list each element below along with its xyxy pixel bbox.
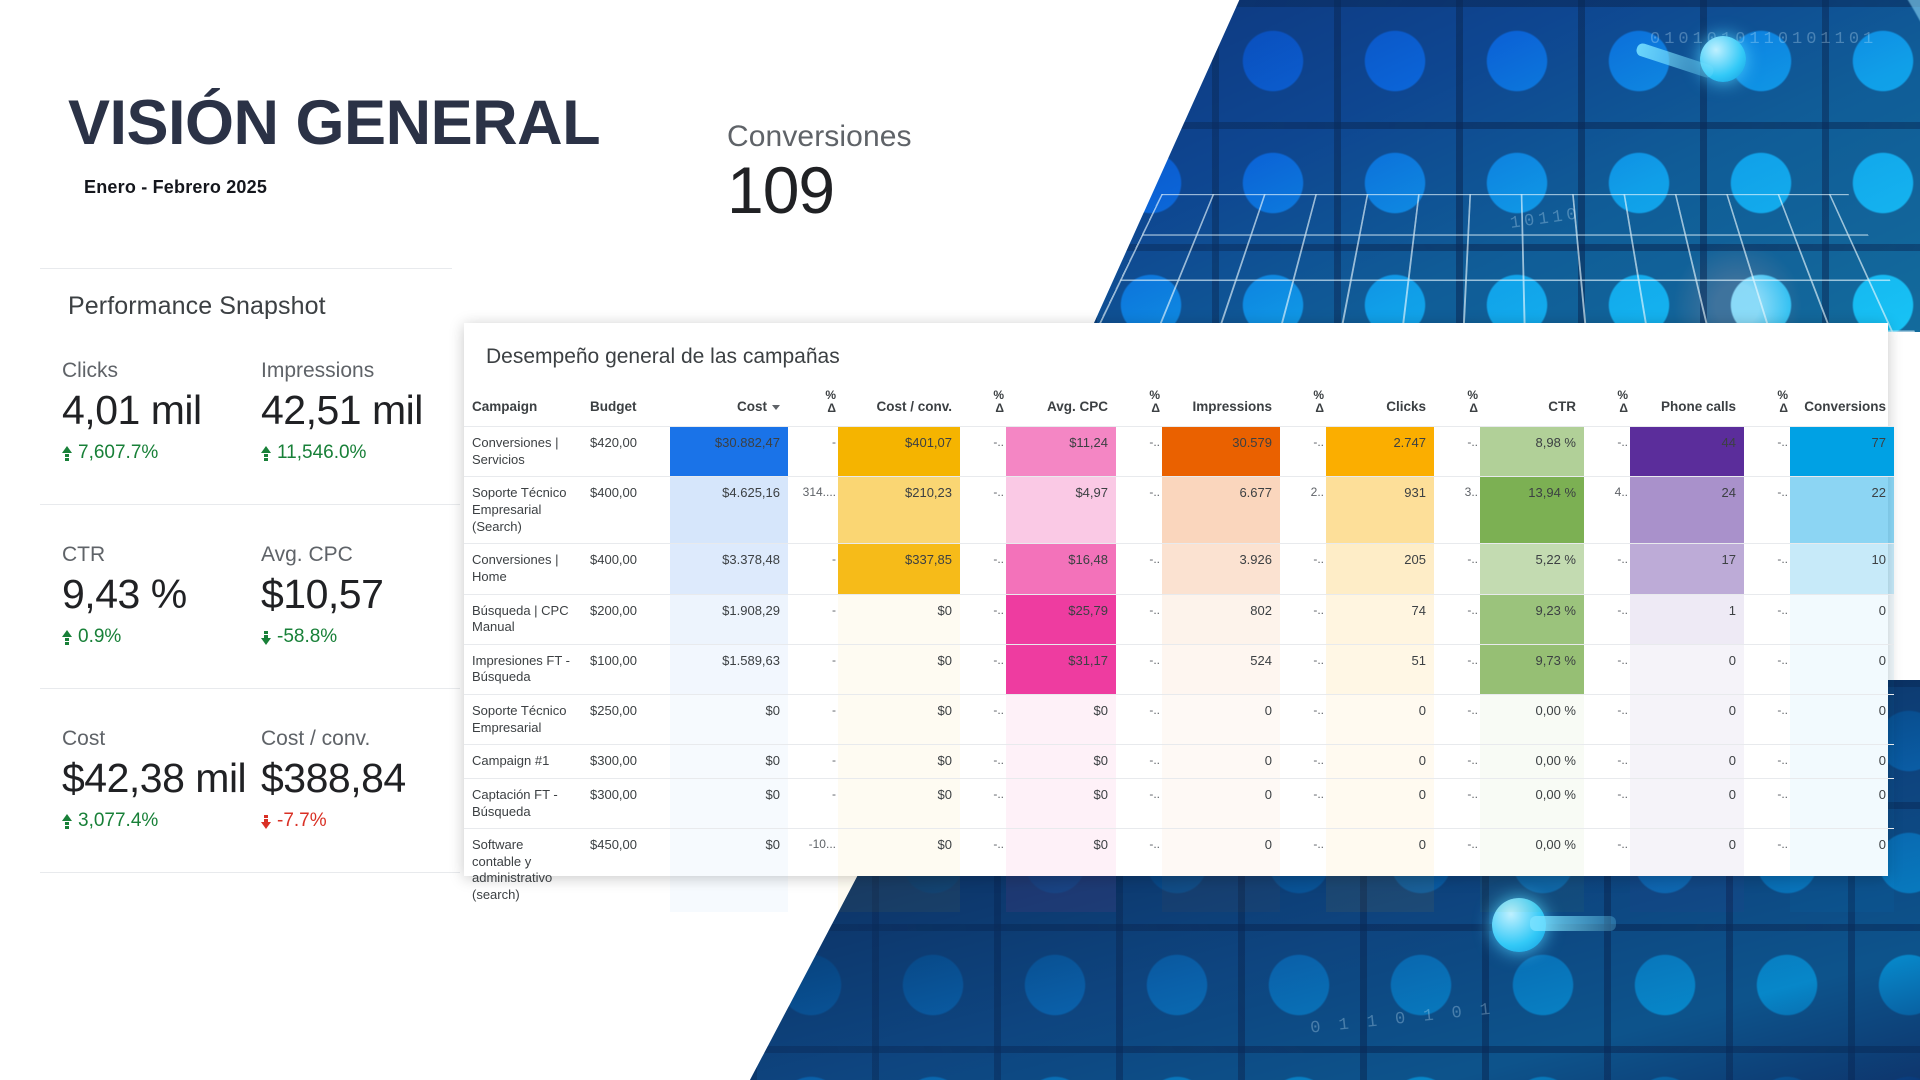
cell-clicks-pct: -..: [1434, 427, 1480, 477]
metric-delta-value: -58.8%: [277, 626, 337, 648]
cell-ctr: 8,98 %: [1480, 427, 1584, 477]
cell-cost-conv: $0: [838, 745, 960, 779]
cell-ctr: 0,00 %: [1480, 778, 1584, 828]
cell-cost-pct: -10...: [788, 829, 838, 912]
cell-phone-calls-pct: -..: [1744, 829, 1790, 912]
cell-conversions: 0: [1790, 829, 1894, 912]
cell-cost-pct: -: [788, 695, 838, 745]
cell-conversions: 77: [1790, 427, 1894, 477]
table-title: Desempeño general de las campañas: [464, 323, 1888, 369]
col-header--15[interactable]: %Δ: [1744, 383, 1790, 427]
metric-label: CTR: [62, 543, 261, 567]
cell-avg-cpc-pct: -..: [1116, 427, 1162, 477]
col-header-impressions[interactable]: Impressions: [1162, 383, 1280, 427]
cell-clicks: 0: [1326, 829, 1434, 912]
cell-impressions: 802: [1162, 594, 1280, 644]
cell-cost-conv: $210,23: [838, 477, 960, 544]
cell-cost-conv-pct: -..: [960, 778, 1006, 828]
metric-cost-conv: Cost / conv.$388,84-7.7%: [261, 727, 460, 832]
kpi-conversions: Conversiones 109: [727, 120, 912, 225]
cell-cost: $4.625,16: [670, 477, 788, 544]
cell-phone-calls-pct: -..: [1744, 544, 1790, 594]
metric-delta: 3,077.4%: [62, 810, 261, 832]
table-row[interactable]: Conversiones | Home$400,00$3.378,48-$337…: [464, 544, 1894, 594]
table-header-row: CampaignBudgetCost%ΔCost / conv.%ΔAvg. C…: [464, 383, 1894, 427]
cell-cost-conv: $0: [838, 695, 960, 745]
metric-delta-value: 3,077.4%: [78, 810, 158, 832]
cell-ctr-pct: -..: [1584, 644, 1630, 694]
metric-value: 9,43 %: [62, 571, 261, 618]
arrow-down-icon: [261, 814, 271, 829]
cell-clicks: 0: [1326, 695, 1434, 745]
table-row[interactable]: Campaign #1$300,00$0-$0-..$0-..0-..0-..0…: [464, 745, 1894, 779]
cell-campaign: Campaign #1: [464, 745, 582, 779]
cell-ctr: 5,22 %: [1480, 544, 1584, 594]
metric-delta: 11,546.0%: [261, 442, 460, 464]
cell-budget: $200,00: [582, 594, 670, 644]
cell-impressions: 0: [1162, 778, 1280, 828]
cell-ctr: 0,00 %: [1480, 695, 1584, 745]
metric-clicks: Clicks4,01 mil7,607.7%: [62, 359, 261, 464]
cell-campaign: Conversiones | Home: [464, 544, 582, 594]
cell-cost-conv-pct: -..: [960, 477, 1006, 544]
cell-cost-conv-pct: -..: [960, 544, 1006, 594]
metric-value: 42,51 mil: [261, 387, 460, 434]
metric-label: Cost: [62, 727, 261, 751]
cell-phone-calls-pct: -..: [1744, 594, 1790, 644]
cell-clicks: 74: [1326, 594, 1434, 644]
cell-impressions-pct: -..: [1280, 778, 1326, 828]
cell-avg-cpc-pct: -..: [1116, 745, 1162, 779]
cell-clicks-pct: -..: [1434, 644, 1480, 694]
cell-ctr: 9,73 %: [1480, 644, 1584, 694]
cell-cost-pct: -: [788, 644, 838, 694]
snapshot-title: Performance Snapshot: [40, 268, 460, 321]
col-header-avg-cpc[interactable]: Avg. CPC: [1006, 383, 1116, 427]
cell-budget: $400,00: [582, 477, 670, 544]
kpi-conversions-label: Conversiones: [727, 120, 912, 154]
cell-campaign: Búsqueda | CPC Manual: [464, 594, 582, 644]
cell-budget: $300,00: [582, 745, 670, 779]
cell-ctr-pct: -..: [1584, 695, 1630, 745]
table-row[interactable]: Soporte Técnico Empresarial (Search)$400…: [464, 477, 1894, 544]
metric-label: Impressions: [261, 359, 460, 383]
metric-delta-value: 7,607.7%: [78, 442, 158, 464]
arrow-down-icon: [261, 630, 271, 645]
cell-budget: $400,00: [582, 544, 670, 594]
cell-impressions: 0: [1162, 695, 1280, 745]
cell-phone-calls: 0: [1630, 695, 1744, 745]
cell-cost-conv-pct: -..: [960, 594, 1006, 644]
metric-cost: Cost$42,38 mil3,077.4%: [62, 727, 261, 832]
cell-ctr-pct: -..: [1584, 544, 1630, 594]
cell-phone-calls: 24: [1630, 477, 1744, 544]
cell-cost: $0: [670, 695, 788, 745]
cell-phone-calls: 17: [1630, 544, 1744, 594]
col-header-cost-conv[interactable]: Cost / conv.: [838, 383, 960, 427]
cell-impressions: 524: [1162, 644, 1280, 694]
arrow-up-icon: [261, 446, 271, 461]
metric-label: Cost / conv.: [261, 727, 460, 751]
campaign-performance-table-panel: Desempeño general de las campañas Campai…: [464, 323, 1888, 876]
cell-avg-cpc-pct: -..: [1116, 695, 1162, 745]
campaign-table: CampaignBudgetCost%ΔCost / conv.%ΔAvg. C…: [464, 383, 1894, 912]
cell-cost-pct: -: [788, 745, 838, 779]
cell-cost: $1.908,29: [670, 594, 788, 644]
cell-impressions: 30.579: [1162, 427, 1280, 477]
cell-cost-conv-pct: -..: [960, 745, 1006, 779]
kpi-conversions-value: 109: [727, 156, 912, 225]
cell-avg-cpc-pct: -..: [1116, 778, 1162, 828]
decorative-tech-image-top: 0101010110101101 10110: [1090, 0, 1920, 332]
cell-phone-calls: 1: [1630, 594, 1744, 644]
cell-campaign: Impresiones FT - Búsqueda: [464, 644, 582, 694]
cell-cost-pct: -: [788, 778, 838, 828]
cell-campaign: Soporte Técnico Empresarial: [464, 695, 582, 745]
cell-budget: $300,00: [582, 778, 670, 828]
cell-campaign: Software contable y administrativo (sear…: [464, 829, 582, 912]
table-row[interactable]: Soporte Técnico Empresarial$250,00$0-$0-…: [464, 695, 1894, 745]
cell-phone-calls-pct: -..: [1744, 644, 1790, 694]
performance-snapshot-card: Performance Snapshot Clicks4,01 mil7,607…: [40, 268, 460, 938]
metric-row: Cost$42,38 mil3,077.4%Cost / conv.$388,8…: [40, 689, 460, 872]
cell-cost: $0: [670, 829, 788, 912]
col-header--11[interactable]: %Δ: [1434, 383, 1480, 427]
cell-cost-conv-pct: -..: [960, 829, 1006, 912]
divider: [40, 872, 460, 873]
metric-value: 4,01 mil: [62, 387, 261, 434]
cell-cost: $3.378,48: [670, 544, 788, 594]
cell-clicks-pct: -..: [1434, 594, 1480, 644]
cell-budget: $420,00: [582, 427, 670, 477]
cell-impressions-pct: -..: [1280, 544, 1326, 594]
metric-delta: -58.8%: [261, 626, 460, 648]
cell-impressions: 3.926: [1162, 544, 1280, 594]
table-row[interactable]: Búsqueda | CPC Manual$200,00$1.908,29-$0…: [464, 594, 1894, 644]
cell-clicks-pct: -..: [1434, 829, 1480, 912]
table-row[interactable]: Software contable y administrativo (sear…: [464, 829, 1894, 912]
cell-phone-calls: 0: [1630, 745, 1744, 779]
cell-clicks: 0: [1326, 745, 1434, 779]
metric-row: CTR9,43 %0.9%Avg. CPC$10,57-58.8%: [40, 505, 460, 688]
table-body: Conversiones | Servicios$420,00$30.882,4…: [464, 427, 1894, 912]
cell-cost-conv: $0: [838, 644, 960, 694]
metric-avg-cpc: Avg. CPC$10,57-58.8%: [261, 543, 460, 648]
cell-impressions-pct: -..: [1280, 829, 1326, 912]
cell-impressions: 6.677: [1162, 477, 1280, 544]
col-header-clicks[interactable]: Clicks: [1326, 383, 1434, 427]
arrow-up-icon: [62, 814, 72, 829]
cell-impressions: 0: [1162, 745, 1280, 779]
cell-budget: $100,00: [582, 644, 670, 694]
cell-impressions-pct: -..: [1280, 745, 1326, 779]
cell-ctr-pct: 4..: [1584, 477, 1630, 544]
cell-avg-cpc: $31,17: [1006, 644, 1116, 694]
metric-impressions: Impressions42,51 mil11,546.0%: [261, 359, 460, 464]
cell-clicks: 2.747: [1326, 427, 1434, 477]
cell-impressions-pct: 2..: [1280, 477, 1326, 544]
page-title: VISIÓN GENERAL: [68, 92, 600, 155]
cell-clicks-pct: -..: [1434, 778, 1480, 828]
cell-conversions: 22: [1790, 477, 1894, 544]
cell-avg-cpc-pct: -..: [1116, 477, 1162, 544]
cell-cost-conv-pct: -..: [960, 427, 1006, 477]
cell-avg-cpc: $0: [1006, 829, 1116, 912]
arrow-up-icon: [62, 446, 72, 461]
cell-campaign: Soporte Técnico Empresarial (Search): [464, 477, 582, 544]
cell-avg-cpc-pct: -..: [1116, 594, 1162, 644]
metric-delta-value: 11,546.0%: [277, 442, 366, 464]
cell-conversions: 10: [1790, 544, 1894, 594]
cell-phone-calls: 44: [1630, 427, 1744, 477]
col-header-phone-calls[interactable]: Phone calls: [1630, 383, 1744, 427]
metric-label: Clicks: [62, 359, 261, 383]
cell-ctr-pct: -..: [1584, 829, 1630, 912]
cell-phone-calls: 0: [1630, 778, 1744, 828]
cell-campaign: Captación FT - Búsqueda: [464, 778, 582, 828]
divider: [40, 268, 452, 269]
cell-cost-pct: -: [788, 427, 838, 477]
cell-ctr-pct: -..: [1584, 778, 1630, 828]
cell-cost-conv: $0: [838, 594, 960, 644]
cell-cost-conv: $337,85: [838, 544, 960, 594]
cell-avg-cpc: $11,24: [1006, 427, 1116, 477]
cell-cost-pct: -: [788, 544, 838, 594]
metric-value: $388,84: [261, 755, 460, 802]
metric-delta: 0.9%: [62, 626, 261, 648]
cell-clicks: 931: [1326, 477, 1434, 544]
metric-row: Clicks4,01 mil7,607.7%Impressions42,51 m…: [40, 321, 460, 504]
sort-descending-icon[interactable]: [772, 405, 780, 410]
cell-phone-calls-pct: -..: [1744, 477, 1790, 544]
metric-ctr: CTR9,43 %0.9%: [62, 543, 261, 648]
cell-phone-calls: 0: [1630, 829, 1744, 912]
cell-ctr-pct: -..: [1584, 594, 1630, 644]
metric-value: $42,38 mil: [62, 755, 261, 802]
cell-avg-cpc: $4,97: [1006, 477, 1116, 544]
col-header--5[interactable]: %Δ: [960, 383, 1006, 427]
cell-cost: $1.589,63: [670, 644, 788, 694]
cell-avg-cpc: $0: [1006, 745, 1116, 779]
cell-avg-cpc-pct: -..: [1116, 829, 1162, 912]
cell-cost-conv-pct: -..: [960, 644, 1006, 694]
cell-ctr: 0,00 %: [1480, 829, 1584, 912]
cell-cost-conv-pct: -..: [960, 695, 1006, 745]
cell-ctr-pct: -..: [1584, 745, 1630, 779]
cell-avg-cpc: $25,79: [1006, 594, 1116, 644]
cell-budget: $250,00: [582, 695, 670, 745]
cell-impressions-pct: -..: [1280, 594, 1326, 644]
cell-cost: $0: [670, 778, 788, 828]
cell-avg-cpc-pct: -..: [1116, 544, 1162, 594]
cell-cost-conv: $401,07: [838, 427, 960, 477]
metric-delta-value: -7.7%: [277, 810, 327, 832]
table-row[interactable]: Conversiones | Servicios$420,00$30.882,4…: [464, 427, 1894, 477]
col-header--7[interactable]: %Δ: [1116, 383, 1162, 427]
cell-cost: $30.882,47: [670, 427, 788, 477]
page-header: VISIÓN GENERAL Enero - Febrero 2025: [68, 92, 600, 198]
cell-phone-calls: 0: [1630, 644, 1744, 694]
cell-ctr: 0,00 %: [1480, 745, 1584, 779]
col-header-conversions[interactable]: Conversions: [1790, 383, 1894, 427]
cell-conversions: 0: [1790, 695, 1894, 745]
cell-budget: $450,00: [582, 829, 670, 912]
col-header-campaign[interactable]: Campaign: [464, 383, 582, 427]
cell-conversions: 0: [1790, 594, 1894, 644]
metric-label: Avg. CPC: [261, 543, 460, 567]
cell-clicks-pct: -..: [1434, 544, 1480, 594]
cell-conversions: 0: [1790, 745, 1894, 779]
cell-clicks-pct: -..: [1434, 745, 1480, 779]
cell-cost: $0: [670, 745, 788, 779]
cell-impressions-pct: -..: [1280, 427, 1326, 477]
cell-ctr: 9,23 %: [1480, 594, 1584, 644]
col-header--9[interactable]: %Δ: [1280, 383, 1326, 427]
cell-phone-calls-pct: -..: [1744, 695, 1790, 745]
cell-cost-pct: 314....: [788, 477, 838, 544]
cell-phone-calls-pct: -..: [1744, 427, 1790, 477]
cell-cost-pct: -: [788, 594, 838, 644]
col-header-ctr[interactable]: CTR: [1480, 383, 1584, 427]
cell-avg-cpc-pct: -..: [1116, 644, 1162, 694]
arrow-up-icon: [62, 630, 72, 645]
cell-clicks-pct: -..: [1434, 695, 1480, 745]
cell-impressions-pct: -..: [1280, 644, 1326, 694]
cell-impressions: 0: [1162, 829, 1280, 912]
metric-value: $10,57: [261, 571, 460, 618]
cell-clicks-pct: 3..: [1434, 477, 1480, 544]
metric-delta-value: 0.9%: [78, 626, 121, 648]
cell-ctr-pct: -..: [1584, 427, 1630, 477]
col-header--3[interactable]: %Δ: [788, 383, 838, 427]
cell-avg-cpc: $0: [1006, 778, 1116, 828]
cell-impressions-pct: -..: [1280, 695, 1326, 745]
col-header-cost[interactable]: Cost: [670, 383, 788, 427]
cell-conversions: 0: [1790, 778, 1894, 828]
cell-avg-cpc: $0: [1006, 695, 1116, 745]
cell-campaign: Conversiones | Servicios: [464, 427, 582, 477]
col-header--13[interactable]: %Δ: [1584, 383, 1630, 427]
table-row[interactable]: Captación FT - Búsqueda$300,00$0-$0-..$0…: [464, 778, 1894, 828]
cell-phone-calls-pct: -..: [1744, 778, 1790, 828]
cell-ctr: 13,94 %: [1480, 477, 1584, 544]
col-header-budget[interactable]: Budget: [582, 383, 670, 427]
cell-clicks: 205: [1326, 544, 1434, 594]
cell-cost-conv: $0: [838, 778, 960, 828]
cell-conversions: 0: [1790, 644, 1894, 694]
metric-delta: 7,607.7%: [62, 442, 261, 464]
cell-clicks: 51: [1326, 644, 1434, 694]
cell-clicks: 0: [1326, 778, 1434, 828]
cell-avg-cpc: $16,48: [1006, 544, 1116, 594]
cell-cost-conv: $0: [838, 829, 960, 912]
metric-delta: -7.7%: [261, 810, 460, 832]
table-row[interactable]: Impresiones FT - Búsqueda$100,00$1.589,6…: [464, 644, 1894, 694]
cell-phone-calls-pct: -..: [1744, 745, 1790, 779]
page-subtitle: Enero - Febrero 2025: [84, 177, 600, 198]
